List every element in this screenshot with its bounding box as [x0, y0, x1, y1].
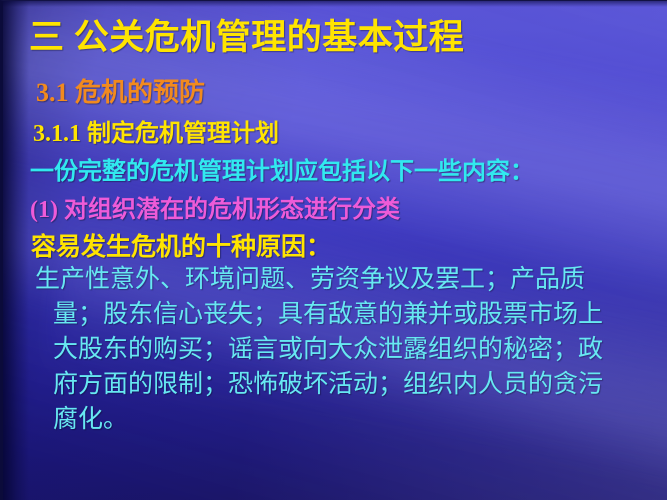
slide-title: 三 公关危机管理的基本过程 — [29, 9, 464, 60]
body-line: 腐化。 — [35, 402, 663, 437]
numbered-item-1: (1) 对组织潜在的危机形态进行分类 — [30, 189, 400, 224]
body-line: 大股东的购买；谣言或向大众泄露组织的秘密；政 — [35, 332, 663, 367]
slide-content: 三 公关危机管理的基本过程 3.1 危机的预防 3.1.1 制定危机管理计划 一… — [3, 1, 667, 500]
lead-sentence: 一份完整的危机管理计划应包括以下一些内容： — [30, 151, 534, 186]
reasons-heading: 容易发生危机的十种原因： — [31, 227, 331, 263]
presentation-slide: 三 公关危机管理的基本过程 3.1 危机的预防 3.1.1 制定危机管理计划 一… — [0, 0, 667, 500]
body-paragraph: 生产性意外、环境问题、劳资争议及罢工；产品质 量；股东信心丧失；具有敌意的兼并或… — [35, 262, 663, 437]
body-line: 府方面的限制；恐怖破坏活动；组织内人员的贪污 — [35, 367, 663, 402]
body-line: 量；股东信心丧失；具有敌意的兼并或股票市场上 — [35, 297, 663, 332]
body-line: 生产性意外、环境问题、劳资争议及罢工；产品质 — [35, 262, 663, 297]
section-heading: 3.1 危机的预防 — [36, 72, 205, 109]
subsection-heading: 3.1.1 制定危机管理计划 — [33, 113, 279, 148]
